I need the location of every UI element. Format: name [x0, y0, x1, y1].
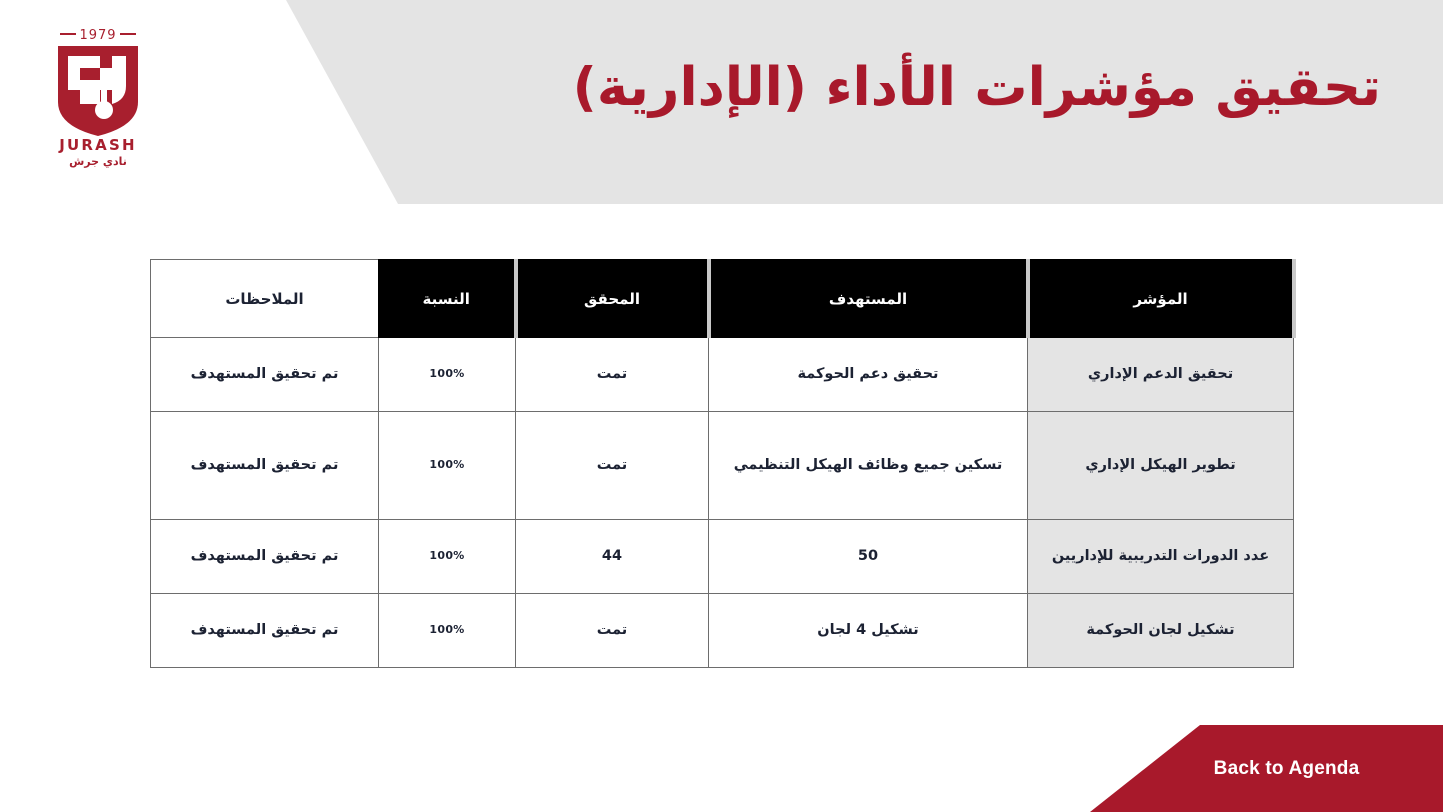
cell-notes: تم تحقيق المستهدف: [151, 412, 379, 520]
page-title: تحقيق مؤشرات الأداء (الإدارية): [421, 58, 1381, 119]
cell-indicator: تشكيل لجان الحوكمة: [1028, 594, 1294, 668]
cell-percent: 100%: [379, 594, 516, 668]
cell-target: تحقيق دعم الحوكمة: [709, 338, 1028, 412]
cell-achieved: تمت: [516, 412, 709, 520]
cell-notes: تم تحقيق المستهدف: [151, 594, 379, 668]
cell-target: تسكين جميع وظائف الهيكل التنظيمي: [709, 412, 1028, 520]
table-row: عدد الدورات التدريبية للإداريين 50 44 10…: [151, 520, 1294, 594]
logo-latin-name: JURASH: [48, 138, 148, 153]
slide-canvas: 1979 JURASH نادي جرش تحقيق مؤشرات الأداء…: [0, 0, 1443, 812]
logo-arabic-name: نادي جرش: [48, 156, 148, 167]
kpi-table: المؤشر المستهدف المحقق النسبة الملاحظات …: [150, 259, 1296, 668]
cell-indicator: تطوير الهيكل الإداري: [1028, 412, 1294, 520]
table-row: تحقيق الدعم الإداري تحقيق دعم الحوكمة تم…: [151, 338, 1294, 412]
table-row: تشكيل لجان الحوكمة تشكيل 4 لجان تمت 100%…: [151, 594, 1294, 668]
back-to-agenda-button[interactable]: Back to Agenda: [1090, 725, 1443, 812]
cell-indicator: عدد الدورات التدريبية للإداريين: [1028, 520, 1294, 594]
table-body: تحقيق الدعم الإداري تحقيق دعم الحوكمة تم…: [151, 338, 1294, 668]
cell-achieved: تمت: [516, 338, 709, 412]
jurash-logo: 1979 JURASH نادي جرش: [48, 24, 148, 174]
cell-achieved: 44: [516, 520, 709, 594]
cell-target: تشكيل 4 لجان: [709, 594, 1028, 668]
back-to-agenda-label: Back to Agenda: [1174, 758, 1360, 780]
cell-percent: 100%: [379, 338, 516, 412]
column-header-notes: الملاحظات: [151, 260, 379, 338]
cell-notes: تم تحقيق المستهدف: [151, 520, 379, 594]
svg-text:1979: 1979: [79, 28, 116, 43]
jurash-shield-icon: 1979: [48, 24, 148, 136]
cell-notes: تم تحقيق المستهدف: [151, 338, 379, 412]
table-header-row: المؤشر المستهدف المحقق النسبة الملاحظات: [151, 260, 1294, 338]
cell-achieved: تمت: [516, 594, 709, 668]
column-header-indicator: المؤشر: [1028, 260, 1294, 338]
table-row: تطوير الهيكل الإداري تسكين جميع وظائف ال…: [151, 412, 1294, 520]
column-header-target: المستهدف: [709, 260, 1028, 338]
cell-indicator: تحقيق الدعم الإداري: [1028, 338, 1294, 412]
cell-percent: 100%: [379, 520, 516, 594]
cell-percent: 100%: [379, 412, 516, 520]
column-header-percent: النسبة: [379, 260, 516, 338]
column-header-achieved: المحقق: [516, 260, 709, 338]
cell-target: 50: [709, 520, 1028, 594]
table-header: المؤشر المستهدف المحقق النسبة الملاحظات: [151, 260, 1294, 338]
